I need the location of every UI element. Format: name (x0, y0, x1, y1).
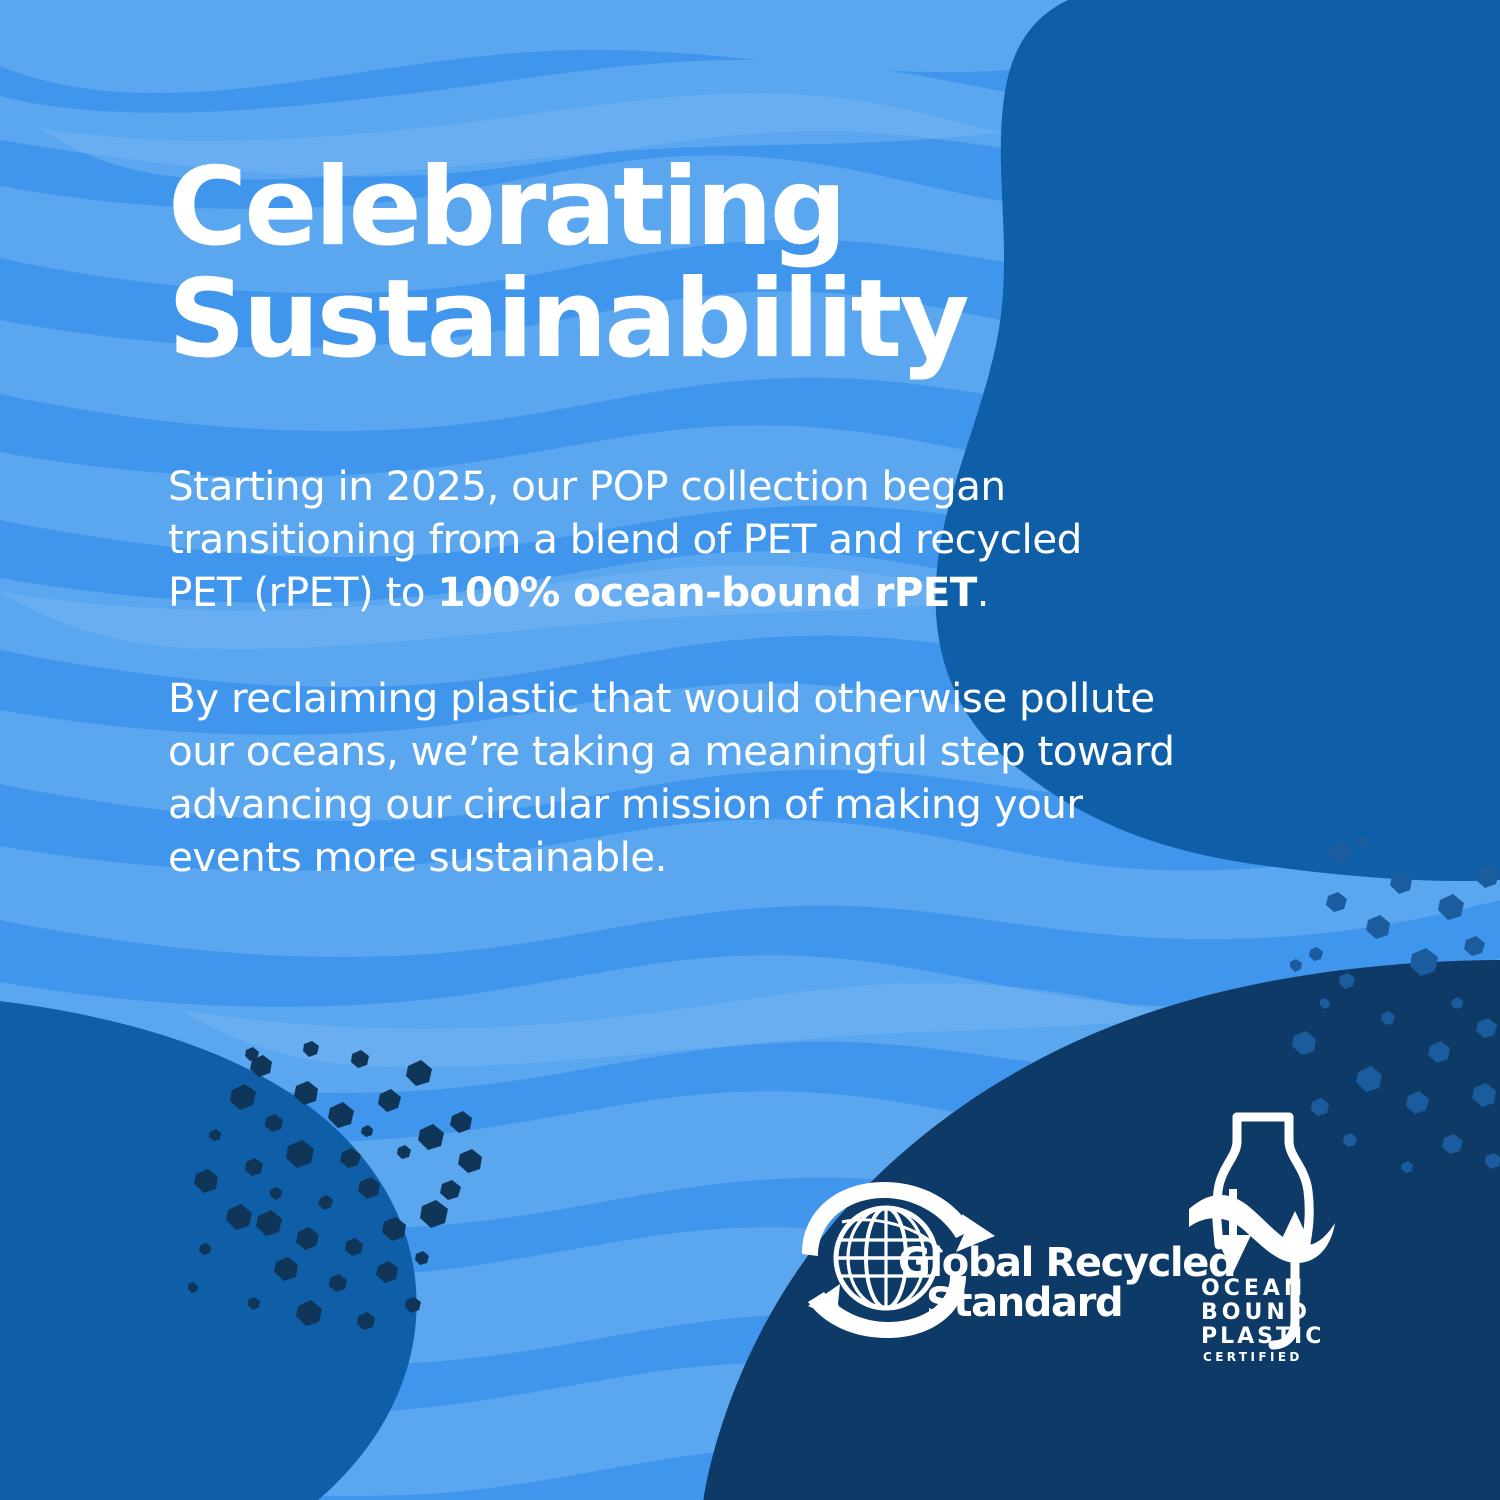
ocean-bound-plastic-logo: OCEAN BOUND PLASTIC CERTIFIED (1185, 1105, 1345, 1370)
text-run: transitioning from a blend of PET and re… (168, 515, 1082, 563)
text-run: . (977, 568, 989, 616)
paragraph-2-line-4: events more sustainable. (168, 831, 1348, 884)
obp-label-certified: CERTIFIED (1203, 1350, 1303, 1364)
body-copy: Starting in 2025, our POP collection beg… (168, 460, 1348, 884)
obp-label-line-2: BOUND (1201, 1300, 1311, 1325)
certification-logos: Global Recycled Standard (780, 1105, 1340, 1375)
paragraph-2-line-3: advancing our circular mission of making… (168, 778, 1348, 831)
paragraph-2-line-1: By reclaiming plastic that would otherwi… (168, 672, 1348, 725)
text-run: Starting in 2025, our POP collection beg… (168, 462, 1006, 510)
global-recycled-standard-logo: Global Recycled Standard (780, 1180, 1120, 1345)
poster-canvas: Celebrating Sustainability Starting in 2… (0, 0, 1500, 1500)
paragraph-1: Starting in 2025, our POP collection beg… (168, 460, 1348, 619)
page-title: Celebrating Sustainability (168, 152, 1168, 377)
paragraph-1-line-2: transitioning from a blend of PET and re… (168, 513, 1348, 566)
headline-line-2: Sustainability (168, 264, 1168, 376)
paragraph-2: By reclaiming plastic that would otherwi… (168, 672, 1348, 884)
paragraph-1-line-1: Starting in 2025, our POP collection beg… (168, 460, 1348, 513)
paragraph-1-line-3: PET (rPET) to 100% ocean-bound rPET. (168, 566, 1348, 619)
headline-line-1: Celebrating (168, 152, 1168, 264)
text-run-emphasis: 100% ocean-bound rPET (437, 568, 976, 616)
grs-label-line-2: Standard (926, 1280, 1122, 1326)
obp-wordmark: OCEAN BOUND PLASTIC CERTIFIED (1201, 1276, 1324, 1364)
paragraph-2-line-2: our oceans, we’re taking a meaningful st… (168, 725, 1348, 778)
obp-label-line-1: OCEAN (1201, 1276, 1306, 1301)
obp-label-line-3: PLASTIC (1201, 1324, 1324, 1349)
text-run: PET (rPET) to (168, 568, 437, 616)
